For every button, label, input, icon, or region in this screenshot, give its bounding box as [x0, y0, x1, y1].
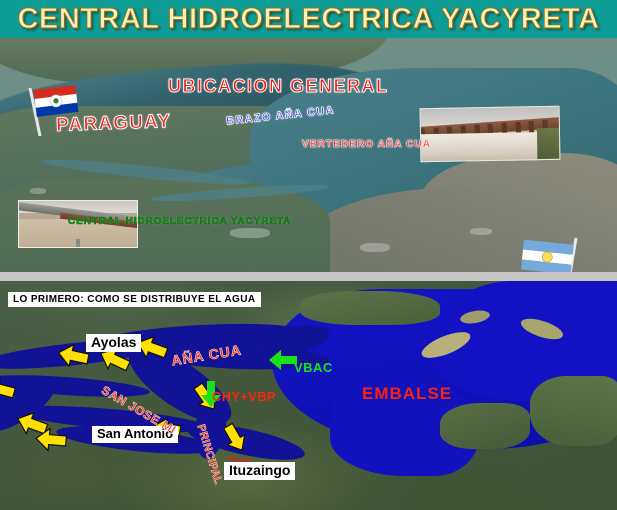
reservoir-island	[530, 376, 617, 446]
panel-ubicacion-general: UBICACION GENERAL PARAGUAY BRAZO AÑA CUA…	[0, 38, 617, 272]
panel-heading-ubicacion-general: UBICACION GENERAL	[168, 76, 389, 97]
terrain-speck	[30, 188, 46, 194]
panel-separator	[0, 272, 617, 281]
label-city-ayolas: Ayolas	[86, 334, 141, 352]
panel-heading-distribucion-agua: LO PRIMERO: COMO SE DISTRIBUYE EL AGUA	[8, 292, 261, 307]
label-city-ituzaingo: Ituzaingo	[224, 462, 295, 480]
terrain-speck	[360, 243, 390, 252]
label-vertedero-ana-cua: VERTEDERO AÑA CUA	[302, 139, 431, 150]
label-flow-chy-vbp: CHY+VBP	[212, 389, 276, 404]
label-flow-vbac: VBAC	[294, 360, 333, 375]
terrain-speck	[470, 228, 492, 235]
label-central-hidroelectrica-yacyreta: CENTRAL HIDROELECTRICA YACYRETA	[68, 216, 291, 227]
slide-title-bar: CENTRAL HIDROELECTRICA YACYRETA	[0, 0, 617, 38]
reservoir-shore	[300, 291, 440, 325]
page-title: CENTRAL HIDROELECTRICA YACYRETA	[17, 3, 599, 36]
photo-vertedero-ana-cua	[420, 106, 561, 162]
slide-root: CENTRAL HIDROELECTRICA YACYRETA	[0, 0, 617, 510]
panel-distribucion-agua	[0, 281, 617, 510]
flag-argentina-icon	[520, 234, 584, 272]
terrain-speck	[230, 228, 270, 238]
label-country-paraguay: PARAGUAY	[56, 111, 172, 137]
label-reservoir-embalse: EMBALSE	[362, 384, 452, 404]
reservoir-island	[440, 403, 530, 449]
satellite-image-bottom	[0, 281, 617, 510]
